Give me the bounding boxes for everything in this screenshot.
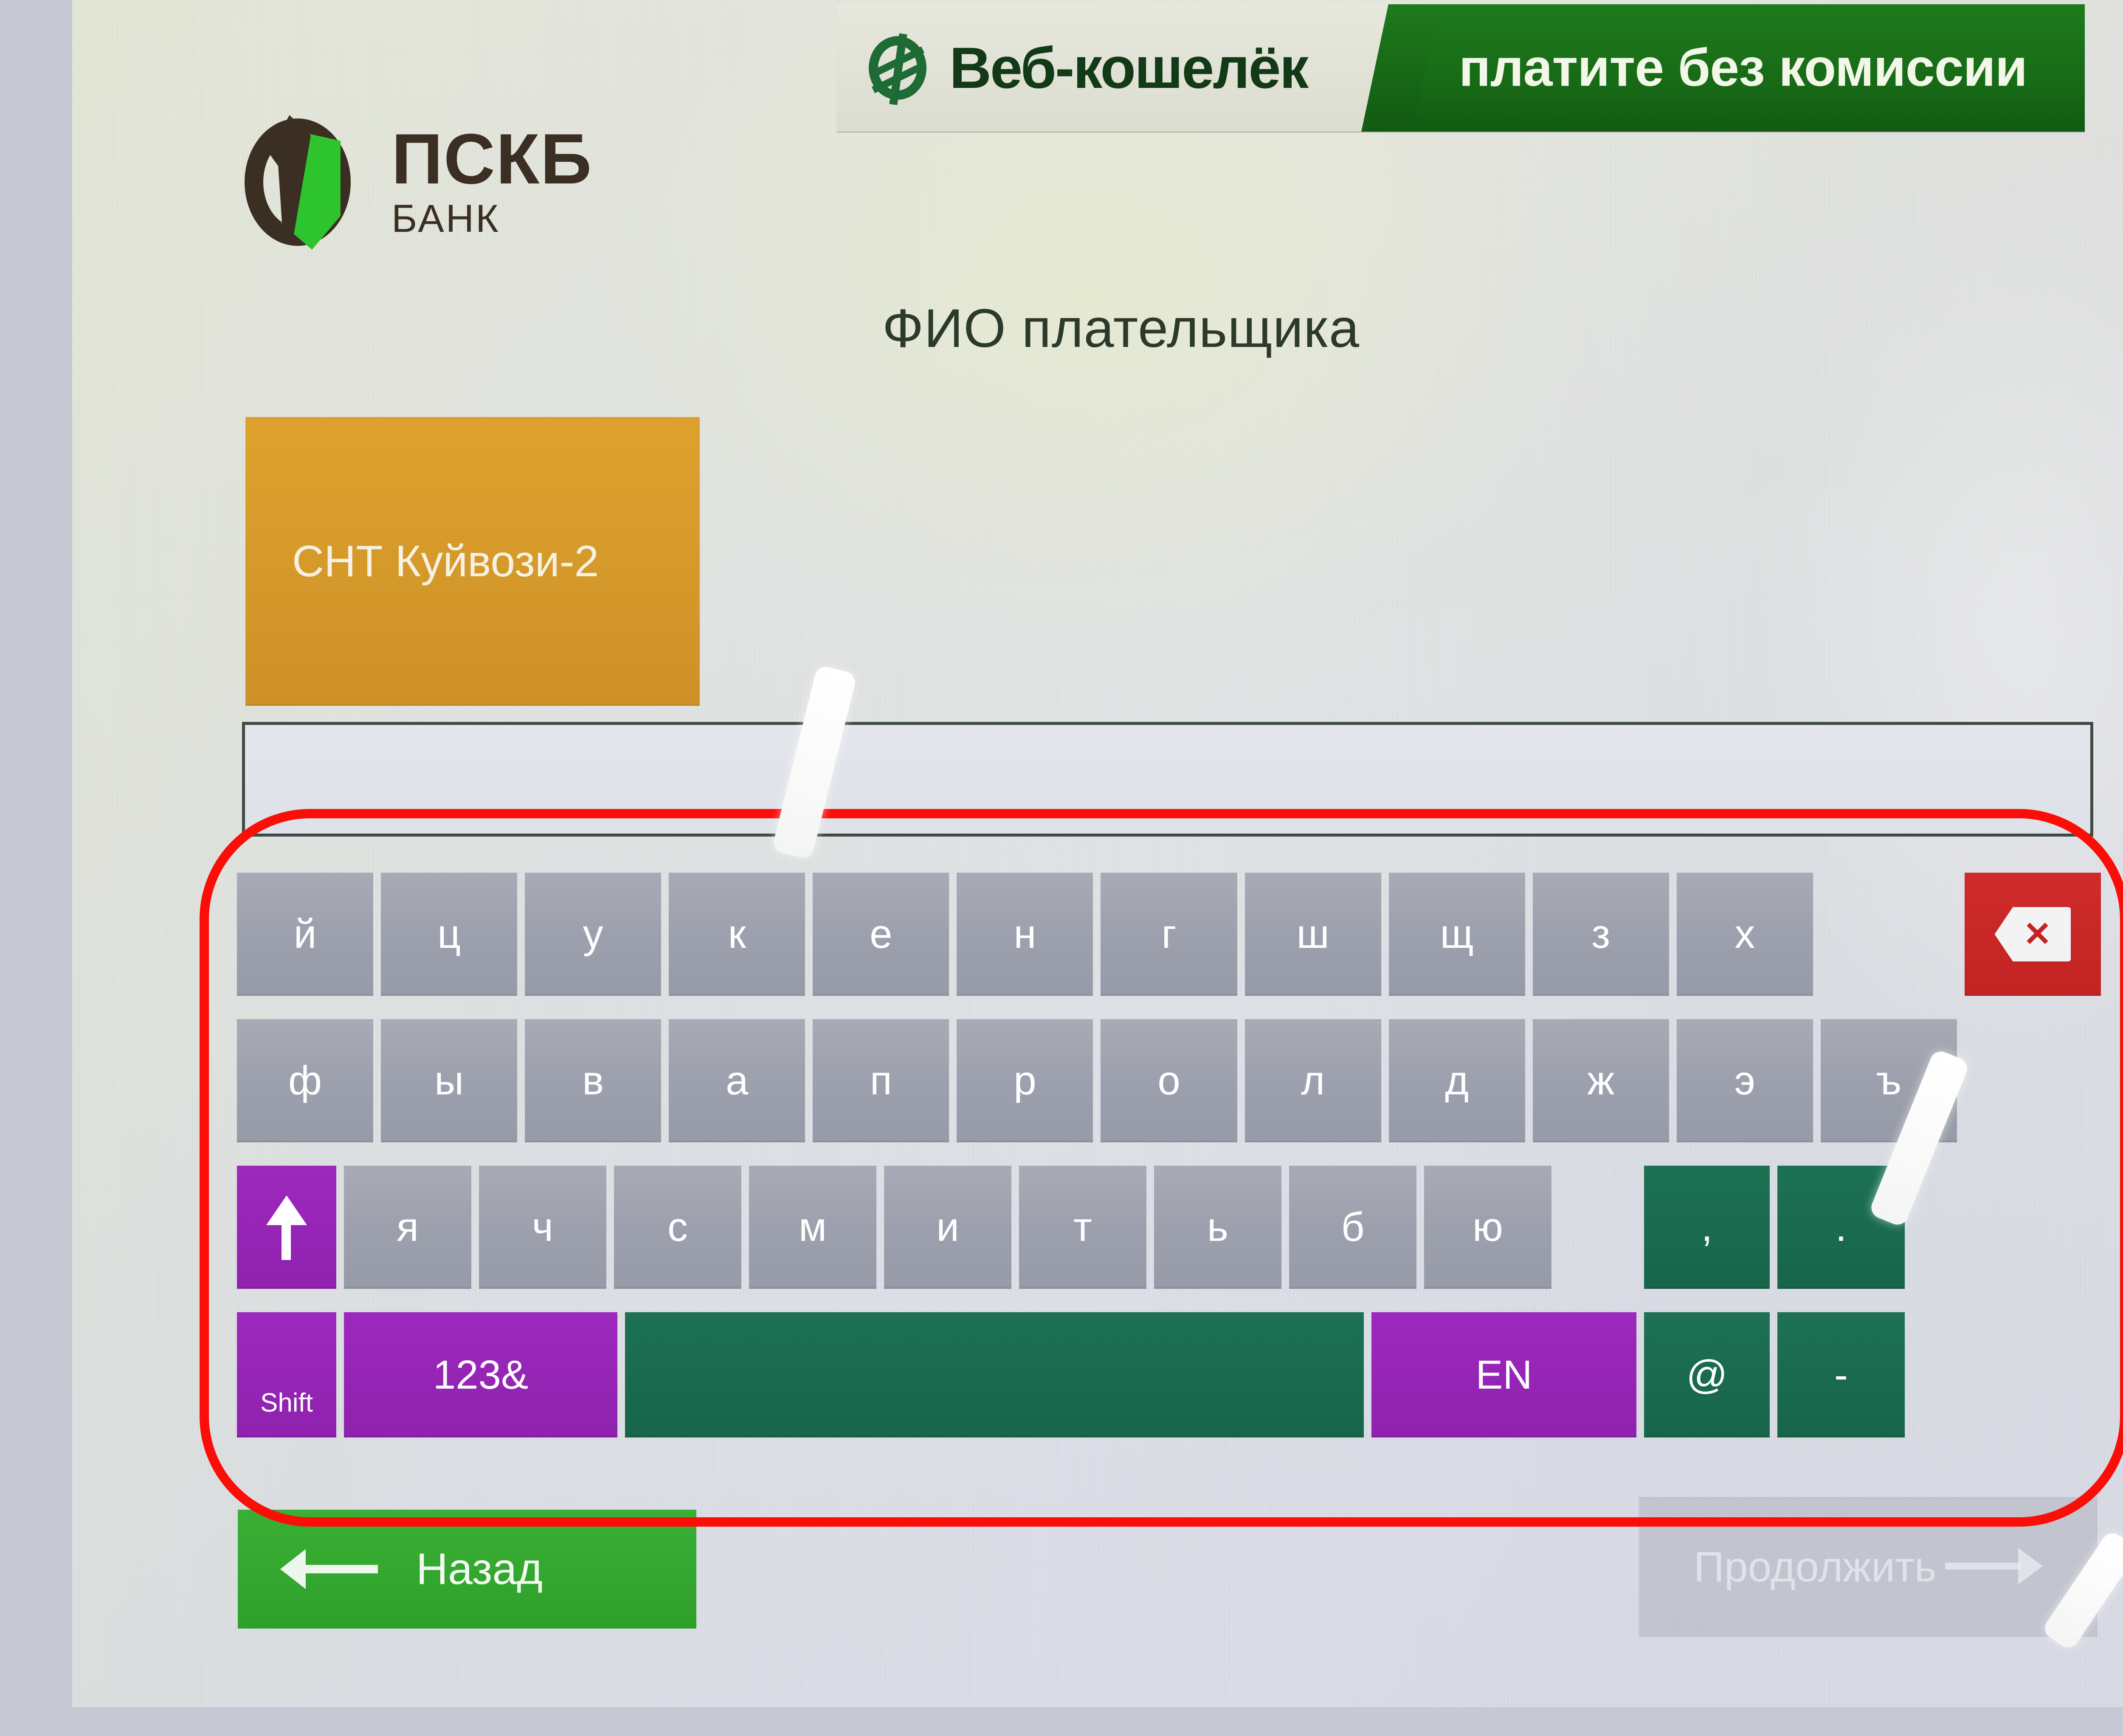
at-sign-key[interactable]: @ — [1644, 1312, 1770, 1437]
page-title: ФИО плательщика — [72, 297, 2123, 360]
payee-selection-button[interactable]: СНТ Куйвози-2 — [245, 417, 700, 706]
key-z[interactable]: з — [1533, 873, 1669, 996]
bank-logo: ПСКБ БАНК — [242, 113, 592, 253]
keyboard-row-3: я ч с м и т ь б ю , . — [237, 1166, 2101, 1289]
language-toggle-key[interactable]: EN — [1371, 1312, 1636, 1437]
dash-key[interactable]: - — [1777, 1312, 1905, 1437]
arrow-right-icon — [1945, 1544, 2043, 1590]
promo-brand-label: Веб-кошелёк — [949, 35, 1307, 101]
key-i[interactable]: и — [884, 1166, 1011, 1289]
key-s[interactable]: с — [614, 1166, 741, 1289]
key-u[interactable]: у — [525, 873, 661, 996]
period-key[interactable]: . — [1777, 1166, 1905, 1289]
shift-key-label[interactable]: Shift — [237, 1312, 336, 1437]
backspace-delete-icon: ✕ — [1994, 907, 2071, 961]
key-t[interactable]: т — [1019, 1166, 1146, 1289]
promo-tagline-label: платите без комиссии — [1459, 38, 2027, 98]
key-l[interactable]: л — [1245, 1019, 1381, 1142]
key-yeru[interactable]: ы — [381, 1019, 517, 1142]
key-soft-sign[interactable]: ь — [1154, 1166, 1281, 1289]
key-g[interactable]: г — [1101, 873, 1237, 996]
key-zh[interactable]: ж — [1533, 1019, 1669, 1142]
key-o[interactable]: о — [1101, 1019, 1237, 1142]
key-k[interactable]: к — [669, 873, 805, 996]
key-n[interactable]: н — [957, 873, 1093, 996]
onscreen-keyboard: й ц у к е н г ш щ з х ✕ ф ы в а — [237, 873, 2101, 1476]
key-kh[interactable]: х — [1677, 873, 1813, 996]
shift-key-top[interactable] — [237, 1166, 336, 1289]
promo-brand-section: Веб-кошелёк — [836, 4, 1401, 132]
continue-button[interactable]: Продолжить — [1639, 1497, 2098, 1637]
key-ch[interactable]: ч — [479, 1166, 606, 1289]
euro-wallet-icon — [866, 32, 930, 104]
back-button[interactable]: Назад — [238, 1510, 696, 1629]
key-ye[interactable]: е — [813, 873, 949, 996]
arrow-left-icon — [280, 1546, 378, 1592]
shift-arrow-up-icon — [266, 1195, 307, 1259]
key-ya[interactable]: я — [344, 1166, 471, 1289]
key-e-reversed[interactable]: э — [1677, 1019, 1813, 1142]
comma-key[interactable]: , — [1644, 1166, 1770, 1289]
keyboard-row-1: й ц у к е н г ш щ з х ✕ — [237, 873, 2101, 996]
key-m[interactable]: м — [749, 1166, 876, 1289]
key-row1-gap — [1821, 873, 1957, 996]
back-button-label: Назад — [416, 1544, 543, 1595]
atm-screen-surface: Веб-кошелёк платите без комиссии ПСКБ БА… — [72, 0, 2123, 1707]
payee-selection-label: СНТ Куйвози-2 — [292, 536, 599, 587]
space-key[interactable] — [625, 1312, 1364, 1437]
key-ts[interactable]: ц — [381, 873, 517, 996]
key-d[interactable]: д — [1389, 1019, 1525, 1142]
bank-subtitle: БАНК — [391, 195, 592, 242]
numeric-symbols-key[interactable]: 123& — [344, 1312, 617, 1437]
promo-banner: Веб-кошелёк платите без комиссии — [836, 4, 2085, 132]
key-r[interactable]: р — [957, 1019, 1093, 1142]
key-a[interactable]: а — [669, 1019, 805, 1142]
key-hard-sign[interactable]: ъ — [1821, 1019, 1957, 1142]
payer-name-input[interactable] — [242, 722, 2093, 837]
key-v[interactable]: в — [525, 1019, 661, 1142]
bank-logo-text: ПСКБ БАНК — [391, 123, 592, 242]
key-p[interactable]: п — [813, 1019, 949, 1142]
bank-name: ПСКБ — [391, 123, 592, 195]
key-f[interactable]: ф — [237, 1019, 373, 1142]
pskb-leaf-icon — [242, 113, 365, 253]
continue-button-label: Продолжить — [1694, 1543, 1937, 1592]
promo-tagline-section: платите без комиссии — [1401, 4, 2085, 132]
backspace-key[interactable]: ✕ — [1965, 873, 2101, 996]
atm-screen-photo: Веб-кошелёк платите без комиссии ПСКБ БА… — [0, 0, 2123, 1736]
keyboard-row-4: Shift 123& EN @ - — [237, 1312, 2101, 1437]
key-shch[interactable]: щ — [1389, 873, 1525, 996]
key-b[interactable]: б — [1289, 1166, 1416, 1289]
key-sh[interactable]: ш — [1245, 873, 1381, 996]
key-y-short[interactable]: й — [237, 873, 373, 996]
key-yu[interactable]: ю — [1424, 1166, 1551, 1289]
keyboard-row-2: ф ы в а п р о л д ж э ъ — [237, 1019, 2101, 1142]
key-row2-gap — [1965, 1019, 2101, 1142]
